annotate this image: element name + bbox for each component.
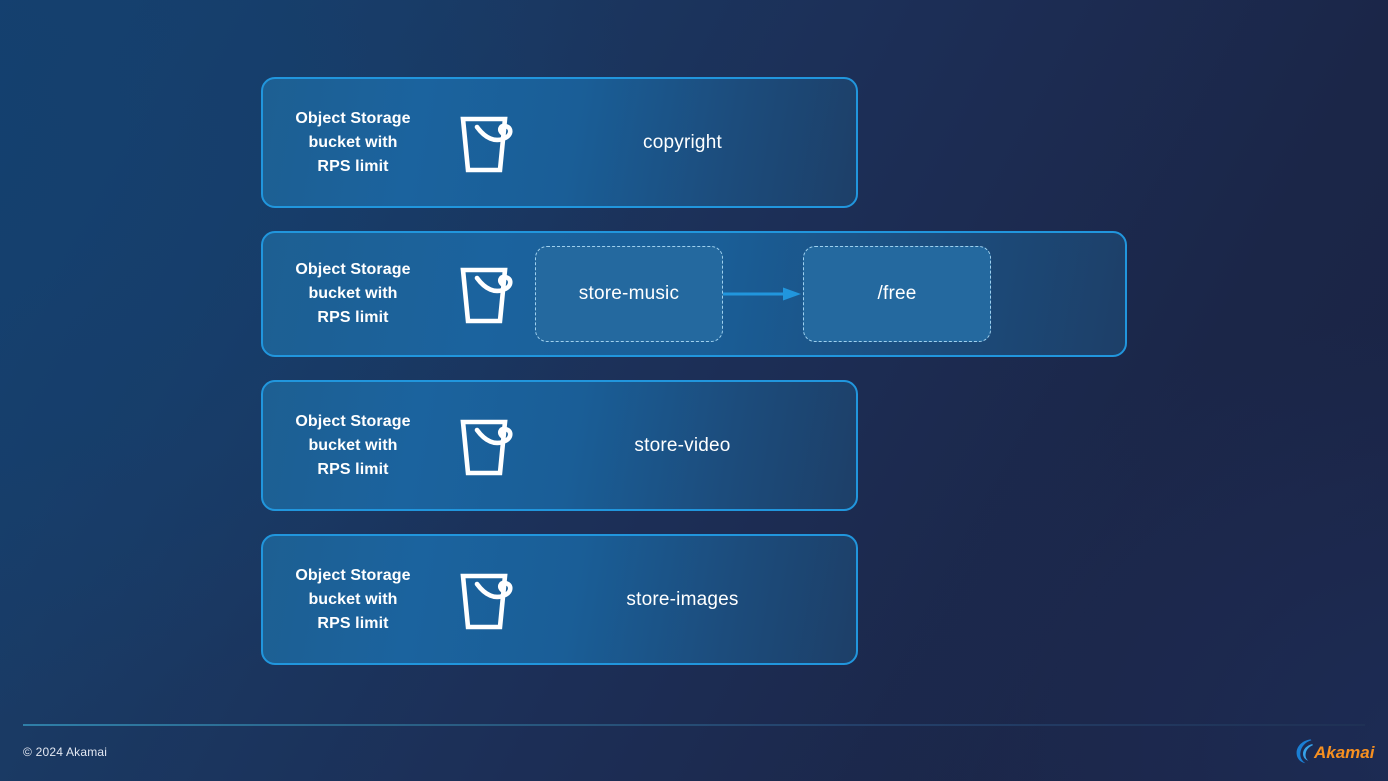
card-caption: Object Storage bucket with RPS limit	[273, 107, 433, 179]
caption-line: RPS limit	[273, 306, 433, 330]
bucket-icon	[455, 413, 517, 479]
slide-canvas: Object Storage bucket with RPS limit cop…	[0, 0, 1388, 781]
caption-line: Object Storage	[273, 564, 433, 588]
caption-line: RPS limit	[273, 612, 433, 636]
caption-line: Object Storage	[273, 410, 433, 434]
bucket-name-label: store-video	[517, 435, 856, 457]
bucket-icon	[455, 261, 517, 327]
nested-box-source[interactable]: store-music	[535, 246, 723, 342]
card-left-cluster: Object Storage bucket with RPS limit	[263, 564, 517, 636]
card-caption: Object Storage bucket with RPS limit	[273, 258, 433, 330]
caption-line: bucket with	[273, 131, 433, 155]
footer-divider	[23, 724, 1365, 726]
card-left-cluster: Object Storage bucket with RPS limit	[263, 107, 517, 179]
bucket-card-copyright[interactable]: Object Storage bucket with RPS limit cop…	[261, 77, 858, 208]
footer-copyright: © 2024 Akamai	[23, 745, 107, 759]
bucket-card-store-images[interactable]: Object Storage bucket with RPS limit sto…	[261, 534, 858, 665]
bucket-card-list: Object Storage bucket with RPS limit cop…	[261, 77, 1127, 688]
card-left-cluster: Object Storage bucket with RPS limit	[263, 258, 517, 330]
caption-line: RPS limit	[273, 458, 433, 482]
nested-box-source-label: store-music	[579, 283, 679, 305]
card-left-cluster: Object Storage bucket with RPS limit	[263, 410, 517, 482]
akamai-logo: Akamai	[1292, 736, 1380, 766]
nested-box-target[interactable]: /free	[803, 246, 991, 342]
bucket-card-store-video[interactable]: Object Storage bucket with RPS limit sto…	[261, 380, 858, 511]
bucket-icon	[455, 567, 517, 633]
arrow-right-icon	[723, 287, 803, 301]
bucket-name-label: copyright	[517, 132, 856, 154]
bucket-card-store-music[interactable]: Object Storage bucket with RPS limit sto…	[261, 231, 1127, 357]
nested-box-target-label: /free	[877, 283, 916, 305]
caption-line: Object Storage	[273, 107, 433, 131]
caption-line: RPS limit	[273, 155, 433, 179]
bucket-name-label: store-images	[517, 589, 856, 611]
card-caption: Object Storage bucket with RPS limit	[273, 564, 433, 636]
caption-line: bucket with	[273, 434, 433, 458]
svg-text:Akamai: Akamai	[1313, 743, 1376, 762]
bucket-icon	[455, 110, 517, 176]
caption-line: bucket with	[273, 282, 433, 306]
caption-line: bucket with	[273, 588, 433, 612]
caption-line: Object Storage	[273, 258, 433, 282]
nested-flow: store-music /free	[535, 246, 991, 342]
card-caption: Object Storage bucket with RPS limit	[273, 410, 433, 482]
